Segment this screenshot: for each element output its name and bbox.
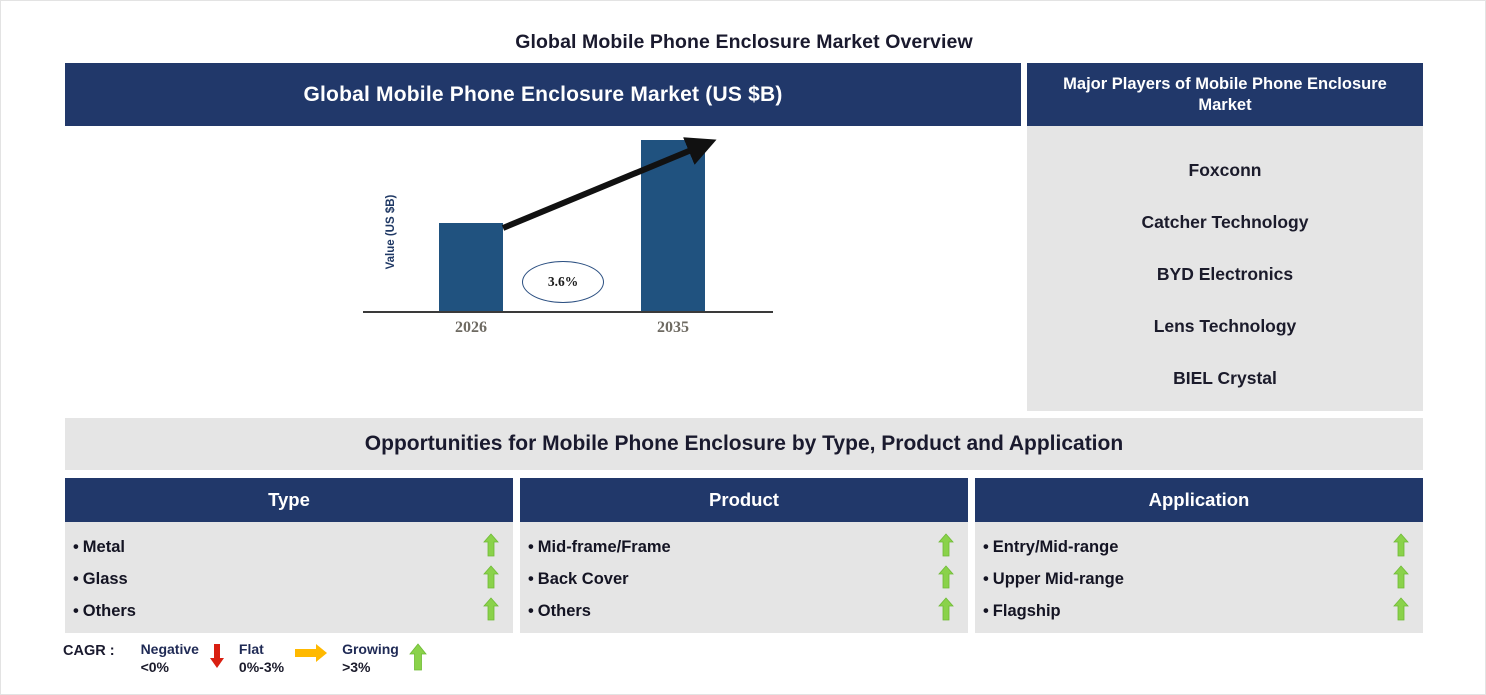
arrow-up-icon [409, 643, 427, 676]
arrow-down-icon [209, 643, 225, 674]
row-text: Others [538, 602, 591, 620]
players-panel-header: Major Players of Mobile Phone Enclosure … [1027, 63, 1423, 126]
bullet-icon: • [983, 538, 989, 556]
page-title: Global Mobile Phone Enclosure Market Ove… [1, 31, 1486, 54]
chart-panel-header: Global Mobile Phone Enclosure Market (US… [65, 63, 1021, 126]
arrow-right-icon [294, 643, 328, 668]
row-text: Mid-frame/Frame [538, 538, 671, 556]
legend-negative-name: Negative [141, 641, 199, 659]
list-item: Foxconn [1189, 144, 1262, 196]
row-label: •Others [73, 602, 483, 621]
bullet-icon: • [983, 602, 989, 620]
column-header-application: Application [975, 478, 1423, 522]
legend-flat-text: Flat 0%-3% [239, 641, 284, 676]
column-application: Application •Entry/Mid-range •Upper Mid-… [975, 478, 1423, 633]
opportunities-band-title: Opportunities for Mobile Phone Enclosure… [65, 418, 1423, 470]
row-text: Metal [83, 538, 125, 556]
arrow-up-icon [1393, 533, 1409, 562]
list-item: BIEL Crystal [1173, 352, 1277, 404]
cagr-legend-title: CAGR : [63, 641, 115, 659]
list-item: BYD Electronics [1157, 248, 1293, 300]
cagr-legend: CAGR : Negative <0% Flat 0%-3% Growing >… [63, 641, 441, 686]
list-item: •Flagship [975, 595, 1423, 627]
row-text: Upper Mid-range [993, 570, 1124, 588]
legend-flat-range: 0%-3% [239, 659, 284, 677]
legend-item-flat: Flat 0%-3% [239, 641, 336, 676]
list-item: •Glass [65, 563, 513, 595]
column-body-application: •Entry/Mid-range •Upper Mid-range •Flags… [975, 522, 1423, 633]
list-item: •Upper Mid-range [975, 563, 1423, 595]
cagr-bubble: 3.6% [522, 261, 604, 303]
bullet-icon: • [528, 602, 534, 620]
legend-negative-text: Negative <0% [141, 641, 199, 676]
arrow-up-icon [483, 597, 499, 626]
column-header-product: Product [520, 478, 968, 522]
players-list: Foxconn Catcher Technology BYD Electroni… [1027, 126, 1423, 411]
market-chart-panel: Global Mobile Phone Enclosure Market (US… [65, 63, 1021, 411]
list-item: Catcher Technology [1142, 196, 1309, 248]
bullet-icon: • [983, 570, 989, 588]
legend-growing-text: Growing >3% [342, 641, 399, 676]
list-item: •Metal [65, 531, 513, 563]
y-axis-label: Value (US $B) [385, 172, 397, 292]
x-tick-label-2035: 2035 [613, 319, 733, 337]
row-text: Flagship [993, 602, 1061, 620]
list-item: •Mid-frame/Frame [520, 531, 968, 563]
row-label: •Back Cover [528, 570, 938, 589]
list-item: •Back Cover [520, 563, 968, 595]
arrow-up-icon [938, 533, 954, 562]
arrow-up-icon [1393, 597, 1409, 626]
x-tick-label-2026: 2026 [411, 319, 531, 337]
arrow-up-icon [938, 597, 954, 626]
column-header-type: Type [65, 478, 513, 522]
arrow-up-icon [483, 565, 499, 594]
major-players-panel: Major Players of Mobile Phone Enclosure … [1027, 63, 1423, 411]
legend-negative-range: <0% [141, 659, 199, 677]
bullet-icon: • [528, 570, 534, 588]
row-text: Others [83, 602, 136, 620]
row-label: •Flagship [983, 602, 1393, 621]
x-axis-line [363, 311, 773, 313]
bullet-icon: • [73, 538, 79, 556]
row-text: Back Cover [538, 570, 629, 588]
legend-item-growing: Growing >3% [342, 641, 435, 676]
column-body-product: •Mid-frame/Frame •Back Cover •Others [520, 522, 968, 633]
row-label: •Others [528, 602, 938, 621]
row-text: Entry/Mid-range [993, 538, 1119, 556]
column-body-type: •Metal •Glass •Others [65, 522, 513, 633]
legend-growing-range: >3% [342, 659, 399, 677]
market-overview-page: Global Mobile Phone Enclosure Market Ove… [0, 0, 1486, 695]
bullet-icon: • [73, 570, 79, 588]
row-text: Glass [83, 570, 128, 588]
list-item: •Entry/Mid-range [975, 531, 1423, 563]
column-type: Type •Metal •Glass •Others [65, 478, 513, 633]
row-label: •Entry/Mid-range [983, 538, 1393, 557]
row-label: •Upper Mid-range [983, 570, 1393, 589]
arrow-up-icon [483, 533, 499, 562]
cagr-trend-arrow-icon [425, 136, 745, 246]
bullet-icon: • [528, 538, 534, 556]
legend-item-negative: Negative <0% [141, 641, 233, 676]
list-item: •Others [65, 595, 513, 627]
legend-growing-name: Growing [342, 641, 399, 659]
list-item: •Others [520, 595, 968, 627]
row-label: •Metal [73, 538, 483, 557]
chart-area: Value (US $B) 2026 2035 3.6% Source : Lu… [65, 126, 1021, 411]
legend-flat-name: Flat [239, 641, 284, 659]
arrow-up-icon [938, 565, 954, 594]
row-label: •Mid-frame/Frame [528, 538, 938, 557]
list-item: Lens Technology [1154, 300, 1297, 352]
column-product: Product •Mid-frame/Frame •Back Cover •Ot… [520, 478, 968, 633]
opportunity-columns: Type •Metal •Glass •Others [65, 478, 1423, 633]
row-label: •Glass [73, 570, 483, 589]
arrow-up-icon [1393, 565, 1409, 594]
bullet-icon: • [73, 602, 79, 620]
